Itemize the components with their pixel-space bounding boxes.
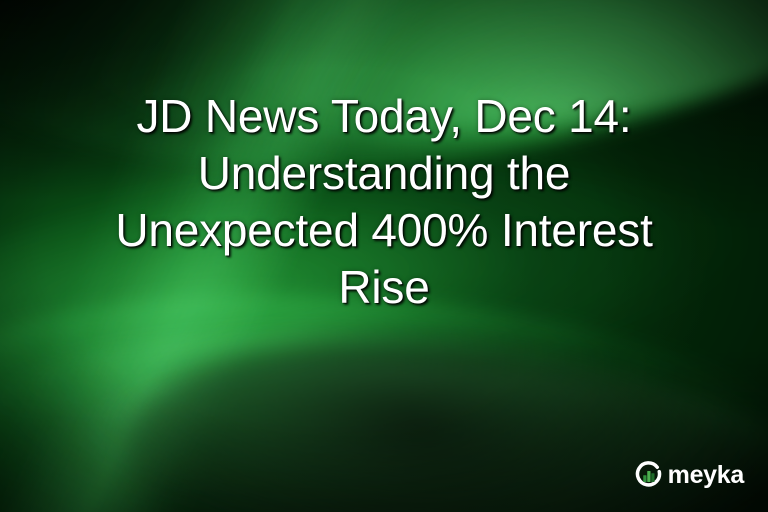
brand-wordmark: meyka xyxy=(668,463,744,488)
page-title: JD News Today, Dec 14: Understanding the… xyxy=(0,88,768,316)
brand-logo: meyka xyxy=(634,460,744,490)
meyka-bar-chart-circle-icon xyxy=(634,460,664,490)
headline-block: JD News Today, Dec 14: Understanding the… xyxy=(0,88,768,316)
news-banner: JD News Today, Dec 14: Understanding the… xyxy=(0,0,768,512)
